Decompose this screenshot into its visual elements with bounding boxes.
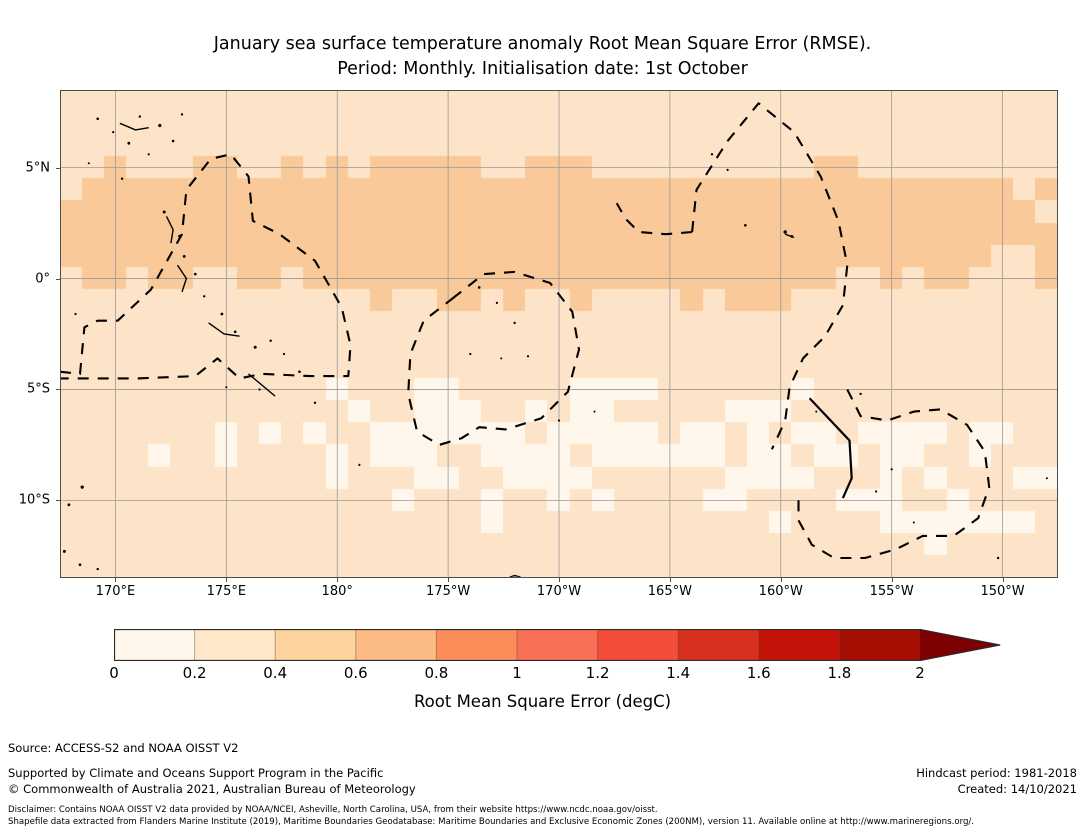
colorbar-tick-label: 1.8 bbox=[827, 664, 851, 682]
island-speck bbox=[815, 411, 817, 413]
island-speck bbox=[234, 331, 237, 334]
y-axis-tick-label: 10°S bbox=[0, 493, 50, 508]
island-speck bbox=[112, 131, 114, 133]
island-speck bbox=[81, 486, 84, 489]
island-speck bbox=[997, 557, 999, 559]
colorbar-segment bbox=[517, 629, 598, 661]
island-speck bbox=[913, 522, 915, 524]
x-axis-tick-mark bbox=[337, 578, 338, 582]
footer-disclaimer-block: Disclaimer: Contains NOAA OISST V2 data … bbox=[8, 804, 974, 828]
footer-hindcast-block: Hindcast period: 1981-2018 Created: 14/1… bbox=[916, 765, 1077, 797]
x-axis-tick-label: 155°W bbox=[870, 584, 914, 599]
island-speck bbox=[314, 402, 316, 404]
island-speck bbox=[181, 113, 183, 115]
colorbar-tick-label: 0.2 bbox=[183, 664, 207, 682]
colorbar-tick-label: 0.8 bbox=[424, 664, 448, 682]
eez-boundary-line bbox=[60, 154, 351, 378]
island-speck bbox=[859, 393, 861, 395]
map-gridlines bbox=[60, 90, 1058, 578]
y-axis-tick-mark bbox=[56, 500, 60, 501]
island-speck bbox=[121, 178, 123, 180]
x-axis-tick-mark bbox=[892, 578, 893, 582]
x-axis-tick-label: 180° bbox=[322, 584, 353, 599]
colorbar-segment bbox=[114, 629, 195, 661]
island-speck bbox=[270, 340, 272, 342]
island-speck bbox=[96, 118, 99, 121]
colorbar-tick-label: 0 bbox=[109, 664, 119, 682]
colorbar bbox=[114, 629, 1001, 661]
coastlines-and-islands bbox=[63, 113, 1048, 578]
island-speck bbox=[148, 153, 150, 155]
map-vector-overlay bbox=[60, 90, 1058, 578]
x-axis-tick-label: 170°E bbox=[96, 584, 136, 599]
island-speck bbox=[784, 230, 787, 233]
y-axis-tick-mark bbox=[56, 389, 60, 390]
chart-title: January sea surface temperature anomaly … bbox=[0, 32, 1085, 82]
colorbar-tick-label: 2 bbox=[915, 664, 925, 682]
colorbar-tick-label: 1.2 bbox=[586, 664, 610, 682]
footer-copyright-line: © Commonwealth of Australia 2021, Austra… bbox=[8, 781, 416, 797]
island-landmass bbox=[510, 575, 521, 578]
colorbar-segment bbox=[759, 629, 840, 661]
island-speck bbox=[79, 563, 82, 566]
colorbar-tick-label: 0.4 bbox=[263, 664, 287, 682]
eez-boundary-line bbox=[692, 103, 847, 449]
y-axis-tick-label: 5°N bbox=[0, 160, 50, 175]
colorbar-tick-label: 1.6 bbox=[747, 664, 771, 682]
x-axis-tick-mark bbox=[781, 578, 782, 582]
island-speck bbox=[527, 355, 529, 357]
island-speck bbox=[163, 211, 166, 214]
colorbar-segment bbox=[678, 629, 759, 661]
island-speck bbox=[172, 140, 175, 143]
island-speck bbox=[254, 346, 257, 349]
y-axis-tick-label: 5°S bbox=[0, 382, 50, 397]
island-speck bbox=[283, 353, 285, 355]
island-speck bbox=[127, 142, 130, 145]
x-axis-tick-label: 175°E bbox=[207, 584, 247, 599]
island-speck bbox=[97, 568, 99, 570]
footer-source: Source: ACCESS-S2 and NOAA OISST V2 bbox=[8, 741, 238, 755]
island-speck bbox=[259, 388, 261, 390]
island-speck bbox=[469, 353, 471, 355]
x-axis-tick-mark bbox=[115, 578, 116, 582]
island-speck bbox=[88, 162, 90, 164]
colorbar-segment bbox=[356, 629, 437, 661]
island-speck bbox=[203, 295, 205, 297]
island-chain bbox=[120, 123, 149, 130]
y-axis-tick-label: 0° bbox=[0, 271, 50, 286]
island-speck bbox=[478, 286, 481, 289]
colorbar-label: Root Mean Square Error (degC) bbox=[0, 692, 1085, 711]
colorbar-segment bbox=[598, 629, 679, 661]
treaty-boundary-line bbox=[810, 398, 852, 498]
title-line-2: Period: Monthly. Initialisation date: 1s… bbox=[0, 57, 1085, 82]
island-speck bbox=[358, 464, 360, 466]
colorbar-tick-label: 1.4 bbox=[666, 664, 690, 682]
island-chain bbox=[209, 323, 240, 336]
colorbar-tick-label: 0.6 bbox=[344, 664, 368, 682]
colorbar-extend-arrow bbox=[920, 629, 1001, 661]
island-speck bbox=[183, 255, 186, 258]
footer-disclaimer-line-2: Shapefile data extracted from Flanders M… bbox=[8, 816, 974, 828]
island-chain bbox=[249, 374, 276, 396]
island-speck bbox=[194, 273, 197, 276]
island-speck bbox=[225, 386, 227, 388]
footer-support-block: Supported by Climate and Oceans Support … bbox=[8, 765, 416, 797]
island-chain bbox=[167, 216, 174, 243]
island-speck bbox=[891, 468, 893, 470]
footer-support-line: Supported by Climate and Oceans Support … bbox=[8, 765, 416, 781]
island-speck bbox=[298, 370, 301, 373]
island-speck bbox=[500, 357, 502, 359]
map-plot-area bbox=[60, 90, 1058, 578]
island-speck bbox=[1046, 477, 1048, 479]
eez-boundary-line bbox=[617, 203, 692, 234]
x-axis-tick-label: 175°W bbox=[426, 584, 470, 599]
y-axis-tick-mark bbox=[56, 279, 60, 280]
colorbar-tick-label: 1 bbox=[512, 664, 522, 682]
x-axis-tick-mark bbox=[670, 578, 671, 582]
island-speck bbox=[496, 302, 498, 304]
eez-boundary-line bbox=[799, 390, 990, 559]
x-axis-tick-label: 150°W bbox=[980, 584, 1024, 599]
x-axis-tick-mark bbox=[448, 578, 449, 582]
eez-boundaries bbox=[60, 103, 989, 558]
colorbar-segment bbox=[275, 629, 356, 661]
island-speck bbox=[594, 411, 596, 413]
footer-created-date: Created: 14/10/2021 bbox=[916, 781, 1077, 797]
island-speck bbox=[711, 153, 713, 155]
eez-boundary-line bbox=[408, 272, 579, 445]
x-axis-tick-label: 165°W bbox=[648, 584, 692, 599]
x-axis-tick-mark bbox=[559, 578, 560, 582]
x-axis-tick-mark bbox=[226, 578, 227, 582]
island-speck bbox=[158, 124, 161, 127]
island-speck bbox=[744, 224, 747, 227]
island-speck bbox=[727, 169, 729, 171]
title-line-1: January sea surface temperature anomaly … bbox=[0, 32, 1085, 57]
island-speck bbox=[139, 115, 141, 117]
colorbar-segment bbox=[195, 629, 276, 661]
island-speck bbox=[74, 313, 76, 315]
island-speck bbox=[875, 490, 877, 492]
x-axis-tick-label: 160°W bbox=[759, 584, 803, 599]
footer-disclaimer-line-1: Disclaimer: Contains NOAA OISST V2 data … bbox=[8, 804, 974, 816]
x-axis-tick-label: 170°W bbox=[537, 584, 581, 599]
footer-hindcast-period: Hindcast period: 1981-2018 bbox=[916, 765, 1077, 781]
island-speck bbox=[63, 550, 66, 553]
island-speck bbox=[221, 313, 224, 316]
island-speck bbox=[68, 503, 71, 506]
colorbar-segment bbox=[436, 629, 517, 661]
island-speck bbox=[513, 322, 515, 324]
colorbar-segment bbox=[839, 629, 920, 661]
x-axis-tick-mark bbox=[1003, 578, 1004, 582]
island-speck bbox=[558, 419, 560, 421]
y-axis-tick-mark bbox=[56, 168, 60, 169]
